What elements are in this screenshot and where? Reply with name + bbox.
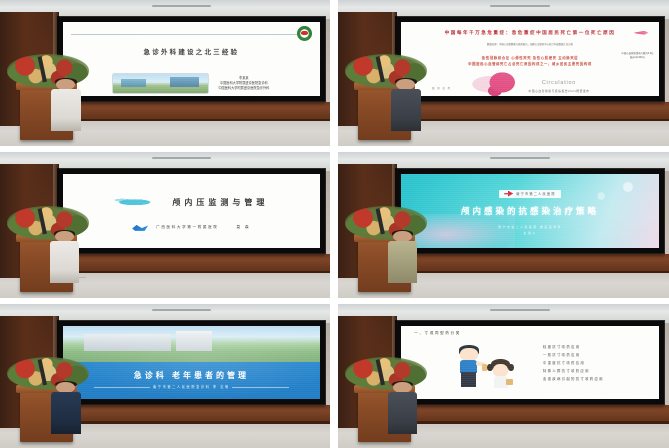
ceiling-vent: [152, 309, 211, 311]
slide-red-line-2: 中国居民心血管病死亡占总死亡原因构成之一，城乡居民主要死因构成: [468, 61, 592, 66]
bullet-item: 一般抗寸咳药应用: [543, 351, 646, 359]
slide-rule: [71, 34, 312, 35]
bullet-item: 轻度抗寸咳药应用: [543, 343, 646, 351]
led-screen: 南宁市第二人民医院 颅内感染的抗感染治疗策略 南宁市第二人民医院 重症医学科 主…: [401, 174, 658, 249]
photo-panel-bottom-left: 急诊科 老年患者的管理 南宁市第二人民医院急诊科 李 志明: [0, 304, 330, 448]
presenter-name: 莫 森: [236, 225, 250, 230]
boy-face: [460, 348, 478, 360]
led-screen: 急诊外科建设之北三经验 李某某 中国医科大学附属盛京医院急诊科 中国医科大学附属…: [63, 22, 320, 97]
photo-panel-middle-left: 颅内压监测与管理 广西医科大学第一附属医院 莫 森: [0, 152, 330, 298]
slide-subtitle: 南宁市第二人民医院急诊科 李 志明: [63, 384, 320, 389]
red-cross-icon: [504, 191, 513, 197]
lecture-hall-scene: 南宁市第二人民医院 颅内感染的抗感染治疗策略 南宁市第二人民医院 重症医学科 主…: [338, 152, 669, 298]
girl-bag-icon: [506, 379, 513, 386]
slide-legend: 图例说明: [432, 86, 453, 90]
lecture-hall-scene: 急诊外科建设之北三经验 李某某 中国医科大学附属盛京医院急诊科 中国医科大学附属…: [0, 0, 330, 146]
slide-red-line-1: 急性冠脉综合征 心源性猝死 急性心肌梗死 主动脉夹层: [482, 55, 578, 60]
slide-headline: 中国每年千万急危重症：急危重症中国居民死亡第一位死亡原因: [445, 30, 616, 36]
speaker: [388, 382, 418, 434]
led-screen: 颅内压监测与管理 广西医科大学第一附属医院 莫 森: [63, 174, 320, 249]
slide-subtitle-2: 主讲人: [523, 231, 536, 235]
screen-shadow: [396, 101, 664, 104]
slide-note: 中国心血管健康与疾病报告2021概要发布: [528, 89, 589, 93]
screen-shadow: [58, 404, 325, 407]
slide-subtitle-1: 南宁市第二人民医院 重症医学科: [498, 225, 562, 229]
presentation-slide-1: 急诊外科建设之北三经验 李某某 中国医科大学附属盛京医院急诊科 中国医科大学附属…: [63, 22, 320, 97]
led-screen: 中国每年千万急危重症：急危重症中国居民死亡第一位死亡原因 数据来源：中国心血管健…: [401, 22, 658, 97]
slide-footer-row: 广西医科大学第一附属医院 莫 森: [132, 225, 251, 231]
lecture-hall-scene: 颅内压监测与管理 广西医科大学第一附属医院 莫 森: [0, 152, 330, 298]
slide-title: 颅内感染的抗感染治疗策略: [461, 205, 599, 217]
hospital-building-photo: [113, 74, 208, 93]
lecture-hall-scene: 急诊科 老年患者的管理 南宁市第二人民医院急诊科 李 志明: [0, 304, 330, 448]
led-screen-frame: 中国每年千万急危重症：急危重症中国居民死亡第一位死亡原因 数据来源：中国心血管健…: [396, 17, 664, 102]
cartoon-boy-icon: [456, 345, 482, 389]
slide-title: 急诊外科建设之北三经验: [144, 46, 240, 56]
screen-shadow: [396, 404, 664, 407]
speaker: [388, 231, 418, 284]
speaker-body: [50, 241, 80, 283]
ceiling-vent: [490, 157, 550, 159]
journal-name: Circulation: [542, 80, 576, 86]
speaker-body: [391, 89, 421, 131]
brush-stroke-graphic: [114, 196, 160, 209]
led-screen-frame: 急诊科 老年患者的管理 南宁市第二人民医院急诊科 李 志明: [58, 321, 325, 405]
slide-title: 颅内压监测与管理: [172, 197, 268, 208]
speaker-body: [388, 241, 418, 283]
presentation-slide-3: 颅内压监测与管理 广西医科大学第一附属医院 莫 森: [63, 174, 320, 249]
led-screen-frame: 急诊外科建设之北三经验 李某某 中国医科大学附属盛京医院急诊科 中国医科大学附属…: [58, 17, 325, 102]
speaker: [51, 382, 81, 434]
ceiling-vent: [490, 309, 550, 311]
bullet-item: 特殊人群抗寸咳药应用: [543, 367, 646, 375]
photo-collage: 急诊外科建设之北三经验 李某某 中国医科大学附属盛京医院急诊科 中国医科大学附属…: [0, 0, 669, 444]
hospital-badge: 南宁市第二人民医院: [499, 190, 561, 198]
presentation-slide-2: 中国每年千万急危重症：急危重症中国居民死亡第一位死亡原因 数据来源：中国心血管健…: [401, 22, 658, 97]
speaker: [50, 231, 80, 284]
badge-text: 南宁市第二人民医院: [516, 191, 556, 196]
speaker-body: [51, 89, 81, 131]
ceiling-vent: [152, 5, 211, 7]
right-caption-2: 脑卒中1300万: [622, 56, 654, 61]
led-screen-frame: 一、寸或同型药分类: [396, 321, 664, 405]
cartoon-girl-icon: [490, 359, 512, 389]
china-map-graphic: [470, 71, 522, 96]
photo-panel-middle-right: 南宁市第二人民医院 颅内感染的抗感染治疗策略 南宁市第二人民医院 重症医学科 主…: [338, 152, 669, 298]
screen-shadow: [58, 253, 325, 256]
bullet-item: 血液疾病引起的抗寸咳药应用: [543, 375, 646, 383]
university-logo-icon: [132, 225, 148, 231]
slide-heading: 一、寸或同型药分类: [414, 331, 461, 336]
hospital-campus-photo: [63, 326, 320, 363]
speaker: [391, 79, 421, 132]
led-screen-frame: 颅内压监测与管理 广西医科大学第一附属医院 莫 森: [58, 169, 325, 254]
screen-shadow: [396, 253, 664, 256]
slide-source-note: 数据来源：中国心血管健康与疾病报告，国家心血管病中心统计年报数据汇总分析: [437, 43, 622, 47]
slide-body-row: 李某某 中国医科大学附属盛京医院急诊科 中国医科大学附属盛京医院急诊外科: [84, 74, 300, 93]
lecture-hall-scene: 一、寸或同型药分类: [338, 304, 669, 448]
boy-pants: [461, 372, 476, 387]
organization-name: 广西医科大学第一附属医院: [156, 225, 218, 230]
bullet-item: 中重度抗寸咳药应用: [543, 359, 646, 367]
slide-meta: 李某某 中国医科大学附属盛京医院急诊科 中国医科大学附属盛京医院急诊外科: [218, 76, 269, 91]
photo-panel-top-left: 急诊外科建设之北三经验 李某某 中国医科大学附属盛京医院急诊科 中国医科大学附属…: [0, 0, 330, 146]
speaker: [51, 79, 81, 132]
speaker-body: [51, 392, 81, 433]
lecture-hall-scene: 中国每年千万急危重症：急危重症中国居民死亡第一位死亡原因 数据来源：中国心血管健…: [338, 0, 669, 146]
ceiling-vent: [490, 5, 550, 7]
hospital-emblem-icon: [297, 26, 312, 41]
slide-title-row: 颅内压监测与管理: [114, 196, 268, 209]
slide-title: 急诊科 老年患者的管理: [63, 370, 320, 381]
floor-marker: [79, 277, 86, 278]
girl-face: [493, 364, 508, 377]
ceiling-vent: [152, 157, 211, 159]
speaker-body: [388, 392, 418, 433]
slide-bullet-list: 轻度抗寸咳药应用 一般抗寸咳药应用 中重度抗寸咳药应用 特殊人群抗寸咳药应用 血…: [543, 343, 646, 383]
photo-panel-bottom-right: 一、寸或同型药分类: [338, 304, 669, 448]
boy-shirt: [460, 360, 478, 373]
presentation-slide-4: 南宁市第二人民医院 颅内感染的抗感染治疗策略 南宁市第二人民医院 重症医学科 主…: [401, 174, 658, 249]
photo-panel-top-right: 中国每年千万急危重症：急危重症中国居民死亡第一位死亡原因 数据来源：中国心血管健…: [338, 0, 669, 146]
presenter-org-2: 中国医科大学附属盛京医院急诊外科: [218, 86, 269, 91]
slide-watermark: 南宁市第二人民医院: [546, 393, 654, 399]
led-screen: 急诊科 老年患者的管理 南宁市第二人民医院急诊科 李 志明: [63, 326, 320, 400]
led-screen-frame: 南宁市第二人民医院 颅内感染的抗感染治疗策略 南宁市第二人民医院 重症医学科 主…: [396, 169, 664, 254]
led-screen: 一、寸或同型药分类: [401, 326, 658, 400]
ribbon-graphic: [634, 31, 648, 35]
slide-right-captions: 中国心血管病患病人数约3.3亿 脑卒中1300万: [622, 52, 654, 61]
cartoon-illustration: [427, 343, 540, 389]
screen-shadow: [58, 101, 325, 104]
slide-body-row: Circulation 中国心血管健康与疾病报告2021概要发布: [412, 71, 649, 96]
